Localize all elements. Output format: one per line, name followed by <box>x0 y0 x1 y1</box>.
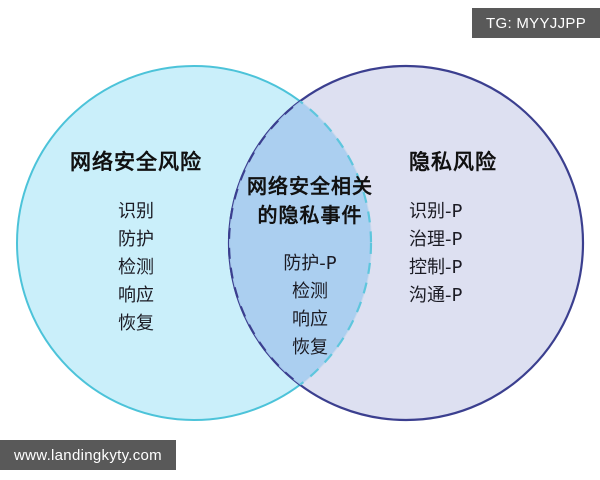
intersection-item: 检测 <box>228 278 392 306</box>
right-set-title: 隐私风险 <box>409 149 497 175</box>
intersection-item: 恢复 <box>228 334 392 362</box>
watermark-bottom-left: www.landingkyty.com <box>0 440 176 470</box>
right-set-item: 治理-P <box>409 226 462 254</box>
intersection-item: 防护-P <box>228 250 392 278</box>
right-set-item: 识别-P <box>409 198 462 226</box>
intersection-title: 网络安全相关 的隐私事件 <box>228 172 392 230</box>
right-set-item: 控制-P <box>409 254 462 282</box>
right-set-item-list: 识别-P 治理-P 控制-P 沟通-P <box>409 198 462 310</box>
intersection-title-line-1: 网络安全相关 <box>247 174 373 198</box>
watermark-top-right: TG: MYYJJPP <box>472 8 600 38</box>
intersection-item: 响应 <box>228 306 392 334</box>
intersection-title-line-2: 的隐私事件 <box>258 203 363 227</box>
venn-diagram: 网络安全风险 识别 防护 检测 响应 恢复 网络安全相关 的隐私事件 防护-P … <box>0 0 600 480</box>
intersection-item-list: 防护-P 检测 响应 恢复 <box>228 250 392 362</box>
right-set-item: 沟通-P <box>409 282 462 310</box>
